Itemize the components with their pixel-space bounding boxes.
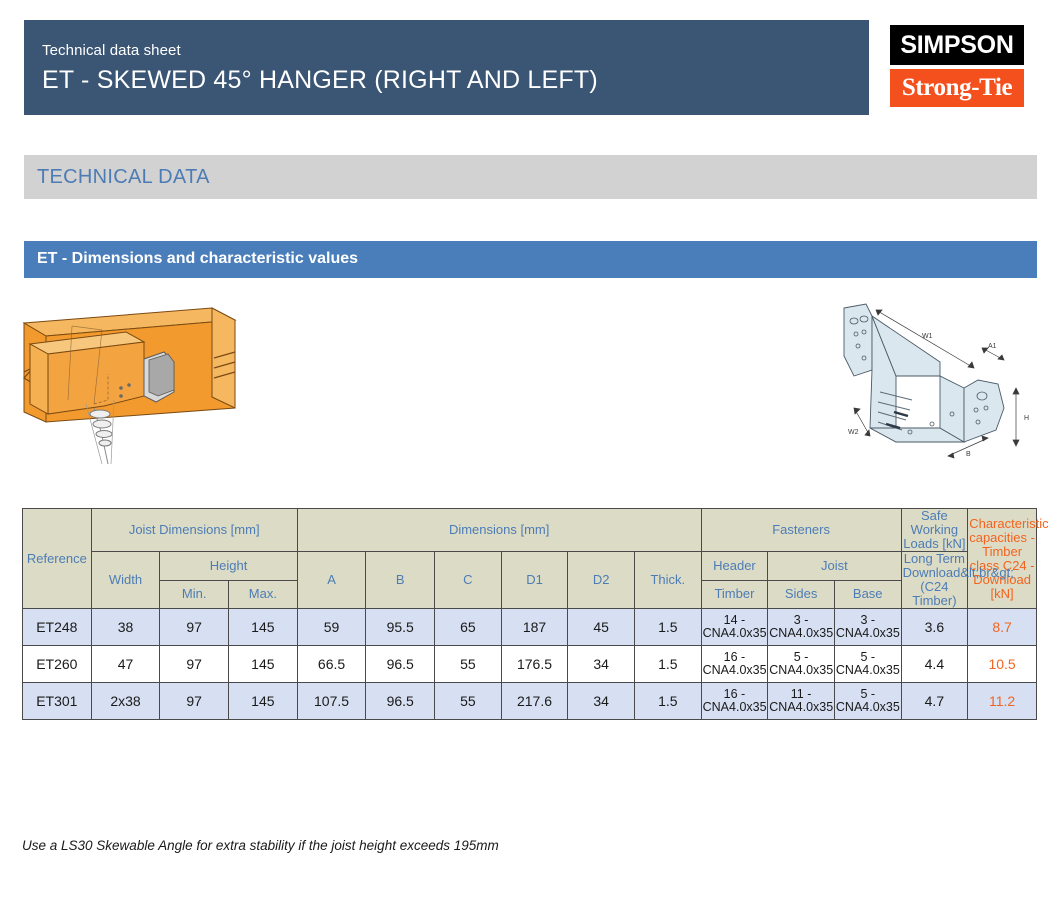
cell-height-max: 145 xyxy=(229,646,298,683)
page-title: ET - SKEWED 45° HANGER (RIGHT AND LEFT) xyxy=(42,66,598,95)
cell-width: 38 xyxy=(91,609,160,646)
cell-fastener-sides: 5 - CNA4.0x35 xyxy=(768,646,835,683)
cell-fastener-sides: 3 - CNA4.0x35 xyxy=(768,609,835,646)
cell-fastener-base: 5 - CNA4.0x35 xyxy=(834,646,901,683)
cell-safe-working-load: 4.7 xyxy=(901,683,968,720)
cell-d2: 34 xyxy=(568,646,635,683)
simpson-strong-tie-logo: SIMPSON Strong-Tie xyxy=(890,25,1024,107)
cell-fastener-timber: 16 - CNA4.0x35 xyxy=(701,683,768,720)
header-c: C xyxy=(435,552,502,609)
technical-data-heading: TECHNICAL DATA xyxy=(37,166,210,189)
cell-height-min: 97 xyxy=(160,646,229,683)
table-body: ET248 38 97 145 59 95.5 65 187 45 1.5 14… xyxy=(23,609,1037,720)
cell-a: 107.5 xyxy=(297,683,366,720)
svg-text:H: H xyxy=(1024,415,1029,422)
dimensions-subsection-bar: ET - Dimensions and characteristic value… xyxy=(24,241,1037,278)
header-subtitle: Technical data sheet xyxy=(42,42,181,59)
technical-data-table: Reference Joist Dimensions [mm] Dimensio… xyxy=(22,508,1037,720)
table-row[interactable]: ET248 38 97 145 59 95.5 65 187 45 1.5 14… xyxy=(23,609,1037,646)
cell-b: 95.5 xyxy=(366,609,435,646)
header-fasteners-joist: Joist xyxy=(768,552,901,581)
cell-fastener-base: 5 - CNA4.0x35 xyxy=(834,683,901,720)
cell-fastener-base: 3 - CNA4.0x35 xyxy=(834,609,901,646)
cell-safe-working-load: 4.4 xyxy=(901,646,968,683)
cell-characteristic-capacity: 10.5 xyxy=(968,646,1037,683)
cell-a: 66.5 xyxy=(297,646,366,683)
header-dimensions: Dimensions [mm] xyxy=(297,509,701,552)
header-d2: D2 xyxy=(568,552,635,609)
cell-fastener-timber: 14 - CNA4.0x35 xyxy=(701,609,768,646)
cell-characteristic-capacity: 11.2 xyxy=(968,683,1037,720)
hanger-drawing-svg: W1 A1 H B W2 xyxy=(836,296,1046,471)
skewed-hanger-installation-illustration xyxy=(16,296,244,471)
cell-height-min: 97 xyxy=(160,683,229,720)
header-b: B xyxy=(366,552,435,609)
brand-simpson-label: SIMPSON xyxy=(890,25,1024,65)
cell-height-max: 145 xyxy=(229,609,298,646)
cell-d1: 176.5 xyxy=(501,646,568,683)
header-reference: Reference xyxy=(23,509,92,609)
cell-d2: 34 xyxy=(568,683,635,720)
header-height-min: Min. xyxy=(160,580,229,609)
header-safe-working-loads: Safe Working Loads [kN] xyxy=(901,509,968,552)
svg-text:A1: A1 xyxy=(988,343,997,350)
cell-reference: ET260 xyxy=(23,646,92,683)
header-a: A xyxy=(297,552,366,609)
header-joist-dimensions: Joist Dimensions [mm] xyxy=(91,509,297,552)
cell-thick: 1.5 xyxy=(634,609,701,646)
svg-text:W1: W1 xyxy=(922,333,933,340)
technical-data-table-wrapper: Reference Joist Dimensions [mm] Dimensio… xyxy=(22,508,1037,720)
cell-fastener-sides: 11 - CNA4.0x35 xyxy=(768,683,835,720)
table-head: Reference Joist Dimensions [mm] Dimensio… xyxy=(23,509,1037,609)
header-fasteners-header: Header xyxy=(701,552,768,581)
cell-b: 96.5 xyxy=(366,683,435,720)
cell-safe-working-load: 3.6 xyxy=(901,609,968,646)
cell-d1: 187 xyxy=(501,609,568,646)
technical-data-section-bar: TECHNICAL DATA xyxy=(24,155,1037,199)
cell-width: 2x38 xyxy=(91,683,160,720)
installation-drawing-svg xyxy=(16,296,244,471)
header-characteristic-capacities: Characteristic capacities - Timber class… xyxy=(968,509,1037,609)
header-row-group: Reference Joist Dimensions [mm] Dimensio… xyxy=(23,509,1037,552)
header-long-term-download: Long Term Download&lt;br&gt; (C24 Timber… xyxy=(901,552,968,609)
hanger-dimension-line-drawing: W1 A1 H B W2 xyxy=(836,296,1046,471)
svg-text:B: B xyxy=(966,451,971,458)
header-fasteners: Fasteners xyxy=(701,509,901,552)
header-thick: Thick. xyxy=(634,552,701,609)
cell-d1: 217.6 xyxy=(501,683,568,720)
cell-height-max: 145 xyxy=(229,683,298,720)
header-row-sub: Width Height A B C D1 D2 Thick. Header J… xyxy=(23,552,1037,581)
table-row[interactable]: ET260 47 97 145 66.5 96.5 55 176.5 34 1.… xyxy=(23,646,1037,683)
cell-reference: ET248 xyxy=(23,609,92,646)
header-fastener-sides: Sides xyxy=(768,580,835,609)
svg-text:W2: W2 xyxy=(848,429,859,436)
header-height-max: Max. xyxy=(229,580,298,609)
header-fastener-timber: Timber xyxy=(701,580,768,609)
cell-c: 55 xyxy=(435,646,502,683)
table-row[interactable]: ET301 2x38 97 145 107.5 96.5 55 217.6 34… xyxy=(23,683,1037,720)
cell-fastener-timber: 16 - CNA4.0x35 xyxy=(701,646,768,683)
cell-reference: ET301 xyxy=(23,683,92,720)
cell-d2: 45 xyxy=(568,609,635,646)
cell-c: 55 xyxy=(435,683,502,720)
header-height: Height xyxy=(160,552,297,581)
header-reference-label: Reference xyxy=(27,551,87,566)
cell-a: 59 xyxy=(297,609,366,646)
header-d1: D1 xyxy=(501,552,568,609)
header-width: Width xyxy=(91,552,160,609)
table-footnote: Use a LS30 Skewable Angle for extra stab… xyxy=(22,838,499,853)
cell-characteristic-capacity: 8.7 xyxy=(968,609,1037,646)
cell-height-min: 97 xyxy=(160,609,229,646)
dimensions-subsection-heading: ET - Dimensions and characteristic value… xyxy=(37,250,358,268)
cell-b: 96.5 xyxy=(366,646,435,683)
cell-thick: 1.5 xyxy=(634,646,701,683)
page-header-band: Technical data sheet ET - SKEWED 45° HAN… xyxy=(24,20,869,115)
cell-width: 47 xyxy=(91,646,160,683)
cell-thick: 1.5 xyxy=(634,683,701,720)
brand-strong-tie-label: Strong-Tie xyxy=(890,69,1024,107)
header-fastener-base: Base xyxy=(834,580,901,609)
cell-c: 65 xyxy=(435,609,502,646)
